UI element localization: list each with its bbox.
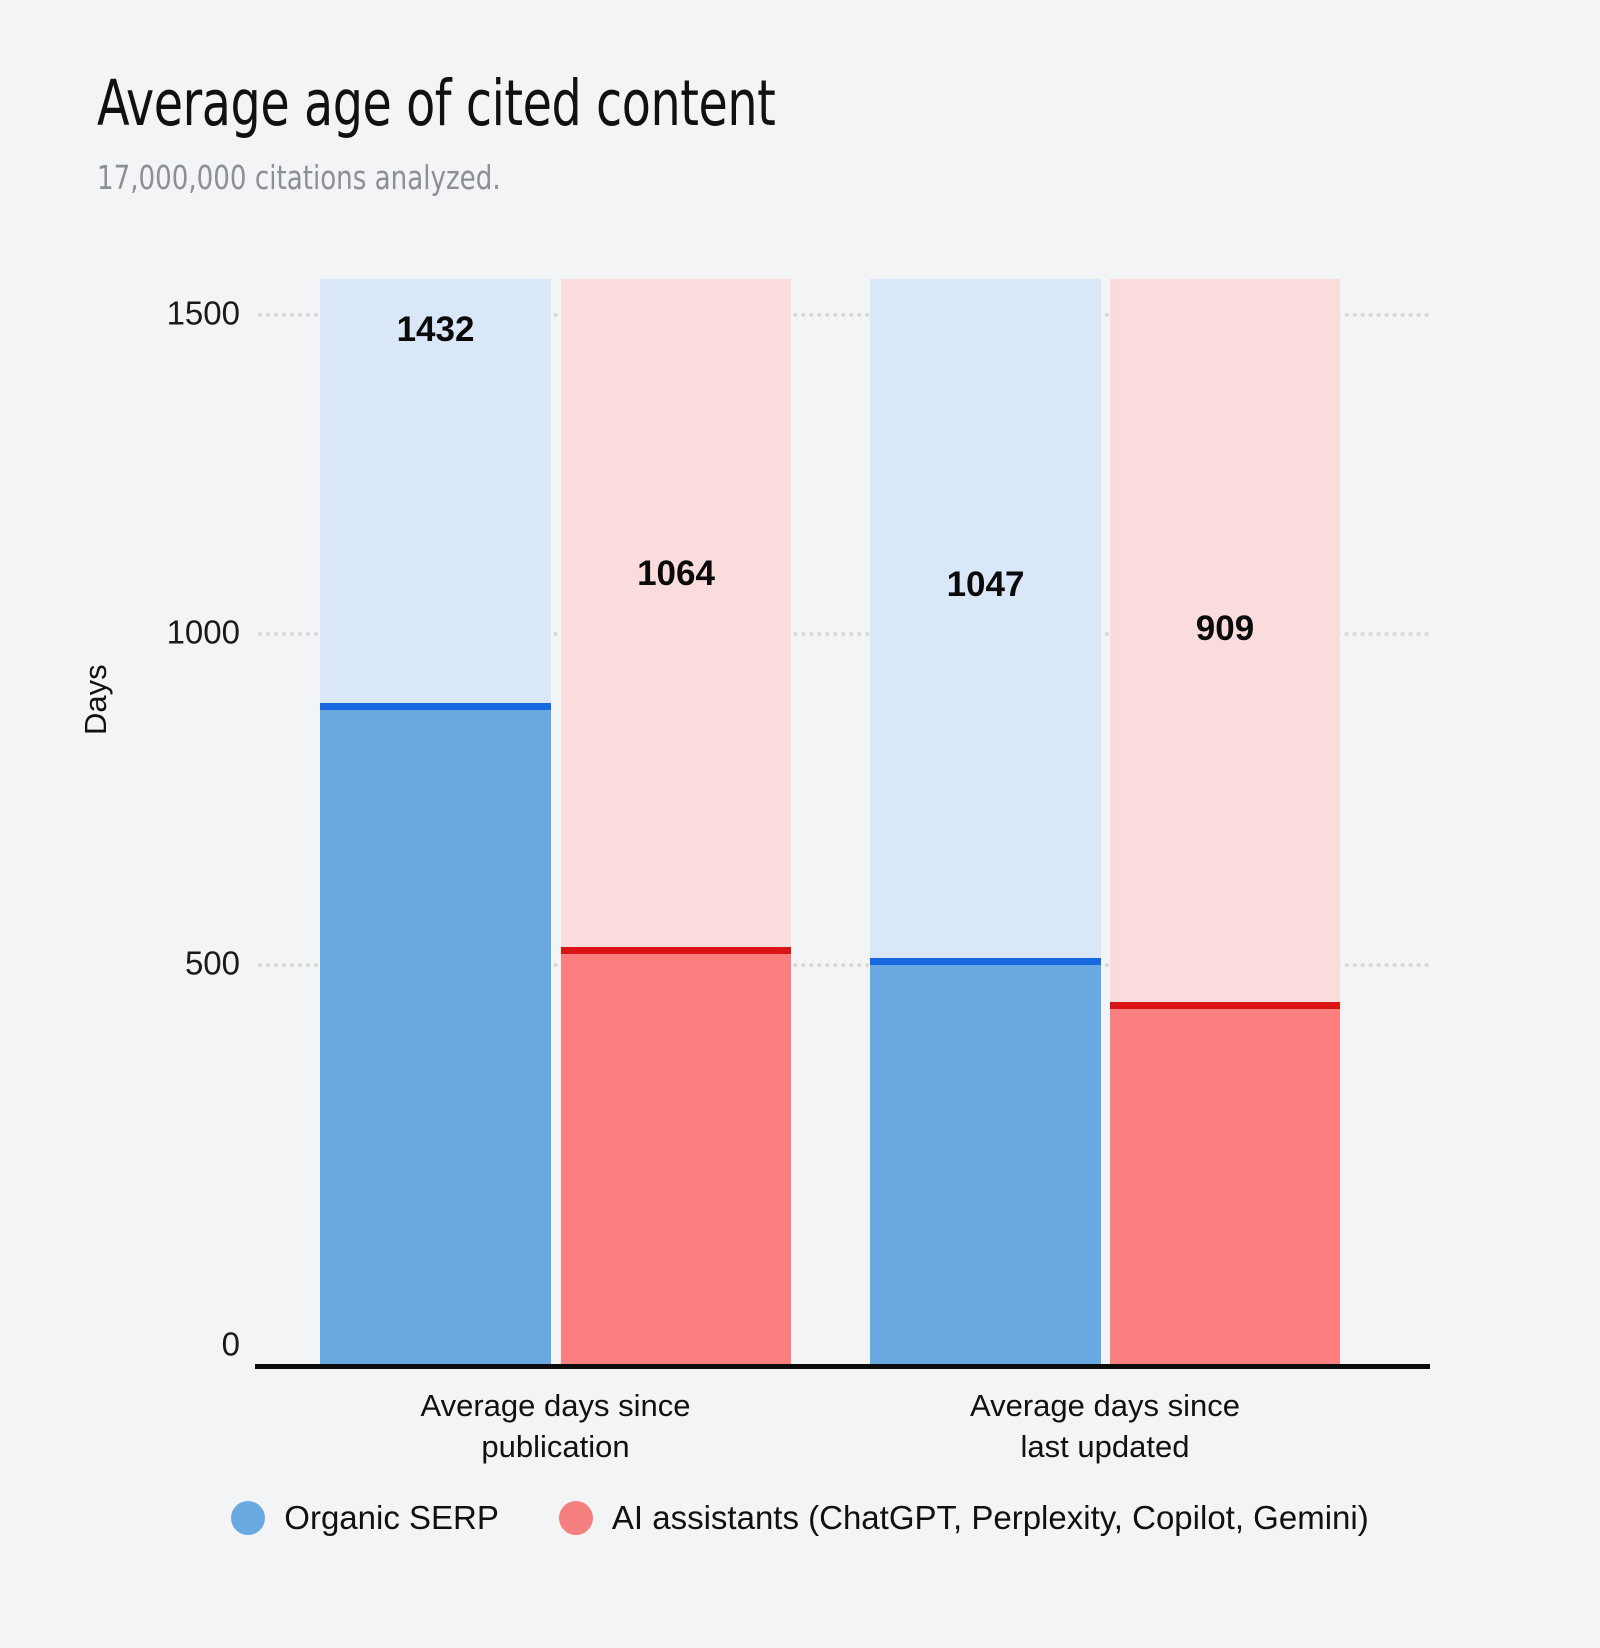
bar-value-organic-updated: 1047	[870, 565, 1101, 605]
legend-swatch-icon	[559, 1501, 593, 1535]
bar-track-organic-publication: 1432	[320, 279, 551, 1366]
legend-label: Organic SERP	[284, 1499, 499, 1537]
bar-track-ai-publication: 1064	[561, 279, 791, 1366]
bar-organic-publication[interactable]	[320, 703, 551, 1366]
category-label-publication: Average days since publication	[320, 1386, 791, 1468]
bar-ai-updated[interactable]	[1110, 1002, 1340, 1366]
y-tick-0: 0	[140, 1328, 240, 1361]
legend-swatch-icon	[231, 1501, 265, 1535]
category-label-line1: Average days since	[320, 1386, 791, 1427]
legend-item-organic-serp[interactable]: Organic SERP	[231, 1499, 499, 1537]
category-label-line2: publication	[320, 1427, 791, 1468]
category-label-line1: Average days since	[870, 1386, 1340, 1427]
bar-organic-updated[interactable]	[870, 958, 1101, 1366]
plot-area: Days 1500 1000 500 0 1432 1064 1047	[0, 0, 1600, 1648]
y-tick-1000: 1000	[140, 616, 240, 649]
bar-value-ai-updated: 909	[1110, 609, 1340, 649]
bar-value-organic-publication: 1432	[320, 310, 551, 350]
bar-track-organic-updated: 1047	[870, 279, 1101, 1366]
y-tick-1500: 1500	[140, 297, 240, 330]
y-axis-ticks: 1500 1000 500 0	[140, 0, 240, 1648]
y-tick-500: 500	[140, 947, 240, 980]
category-label-line2: last updated	[870, 1427, 1340, 1468]
y-axis-title: Days	[78, 664, 114, 735]
bar-value-ai-publication: 1064	[561, 554, 791, 594]
bar-track-ai-updated: 909	[1110, 279, 1340, 1366]
category-label-updated: Average days since last updated	[870, 1386, 1340, 1468]
chart-page: Average age of cited content 17,000,000 …	[0, 0, 1600, 1648]
x-axis-line	[255, 1364, 1430, 1369]
legend-label: AI assistants (ChatGPT, Perplexity, Copi…	[612, 1499, 1369, 1537]
chart-legend: Organic SERP AI assistants (ChatGPT, Per…	[0, 1499, 1600, 1537]
bar-ai-publication[interactable]	[561, 947, 791, 1366]
legend-item-ai-assistants[interactable]: AI assistants (ChatGPT, Perplexity, Copi…	[559, 1499, 1369, 1537]
